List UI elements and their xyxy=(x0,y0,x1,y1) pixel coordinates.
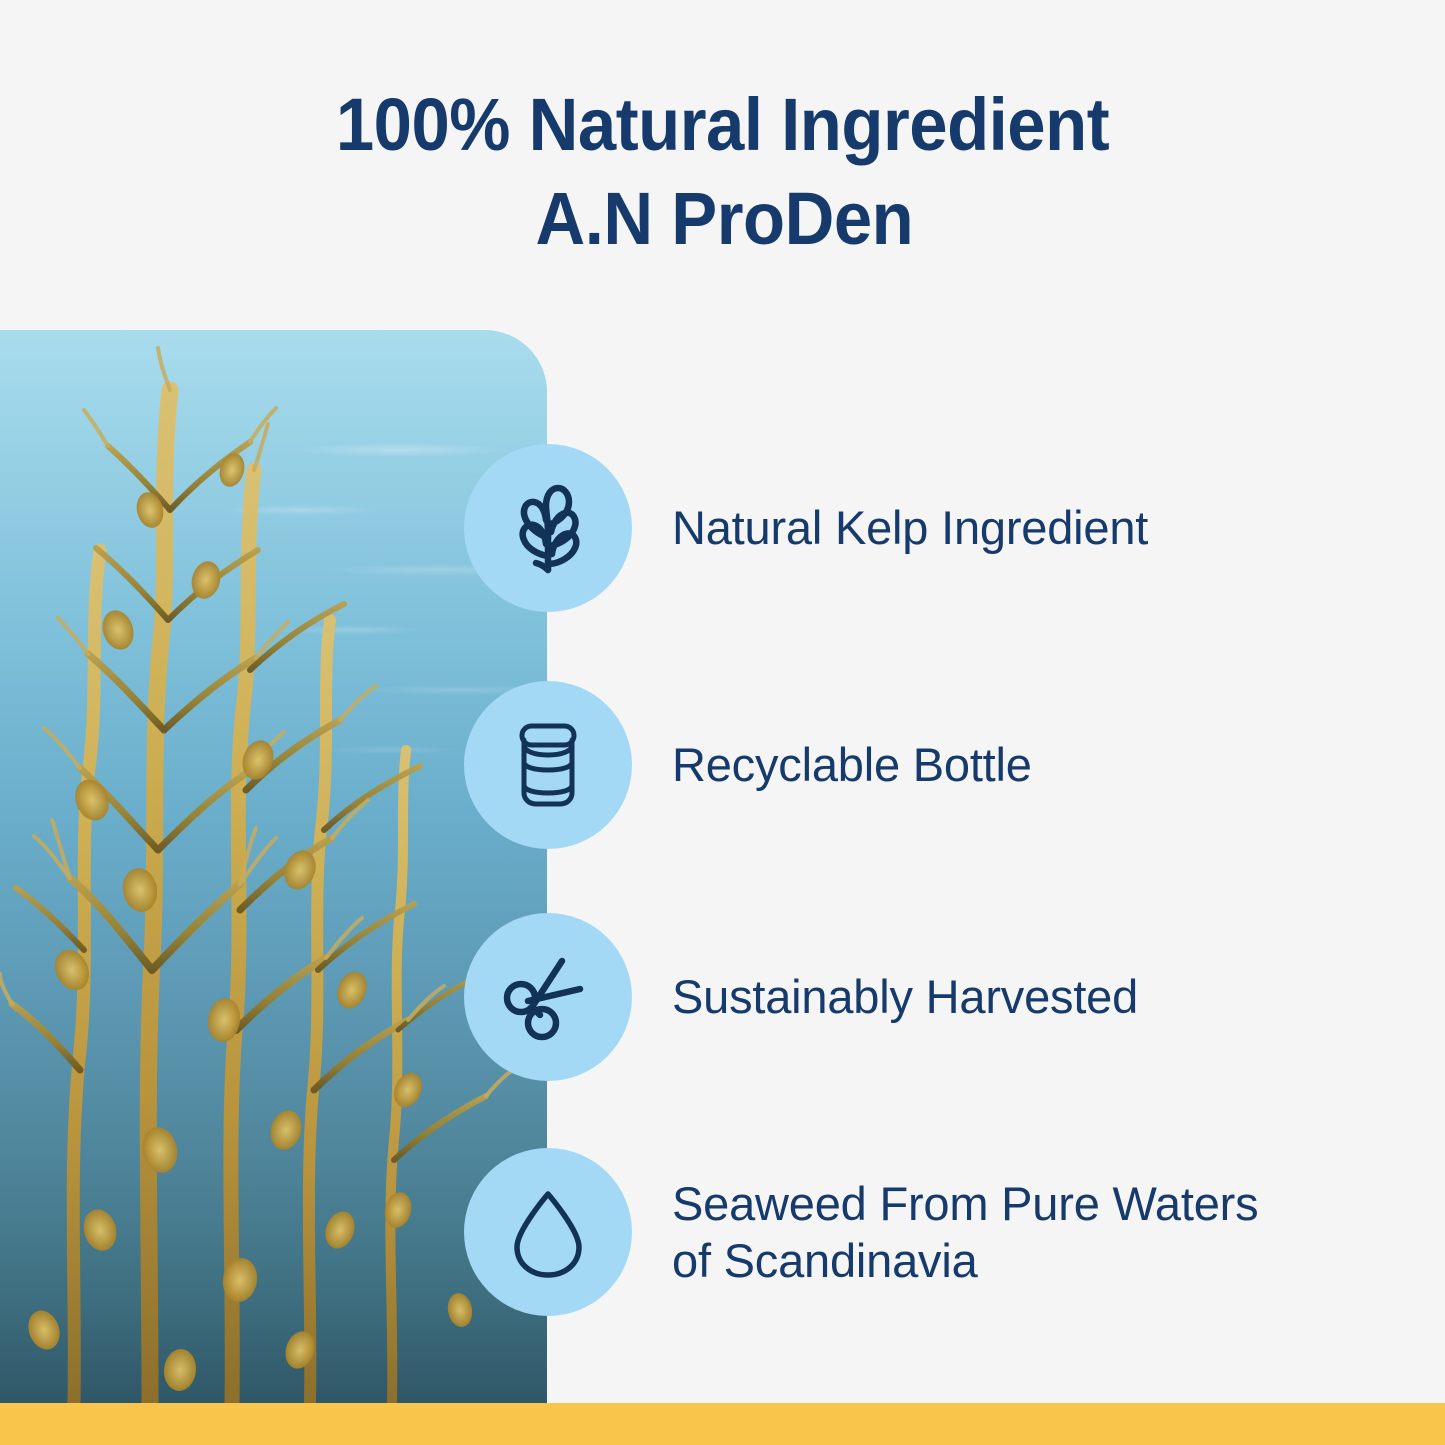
feature-icon-badge xyxy=(464,1148,632,1316)
feature-label: Sustainably Harvested xyxy=(672,968,1138,1025)
feature-item-recyclable-bottle[interactable]: Recyclable Bottle xyxy=(464,681,1032,849)
feature-list: Natural Kelp Ingredient xyxy=(0,0,1445,1445)
feature-icon-badge xyxy=(464,681,632,849)
feature-item-pure-waters[interactable]: Seaweed From Pure Waters of Scandinavia xyxy=(464,1148,1258,1316)
feature-item-sustainably-harvested[interactable]: Sustainably Harvested xyxy=(464,913,1138,1081)
water-droplet-icon xyxy=(499,1183,597,1281)
feature-label: Recyclable Bottle xyxy=(672,736,1032,793)
infographic-page: 100% Natural Ingredient A.N ProDen xyxy=(0,0,1445,1445)
feature-icon-badge xyxy=(464,444,632,612)
feature-label: Seaweed From Pure Waters of Scandinavia xyxy=(672,1175,1258,1290)
feature-icon-badge xyxy=(464,913,632,1081)
feature-label: Natural Kelp Ingredient xyxy=(672,499,1148,556)
seaweed-frond-icon xyxy=(496,476,600,580)
feature-item-natural-kelp[interactable]: Natural Kelp Ingredient xyxy=(464,444,1148,612)
bottom-accent-bar xyxy=(0,1403,1445,1445)
scissors-icon xyxy=(496,945,600,1049)
bottle-jar-icon xyxy=(498,715,598,815)
